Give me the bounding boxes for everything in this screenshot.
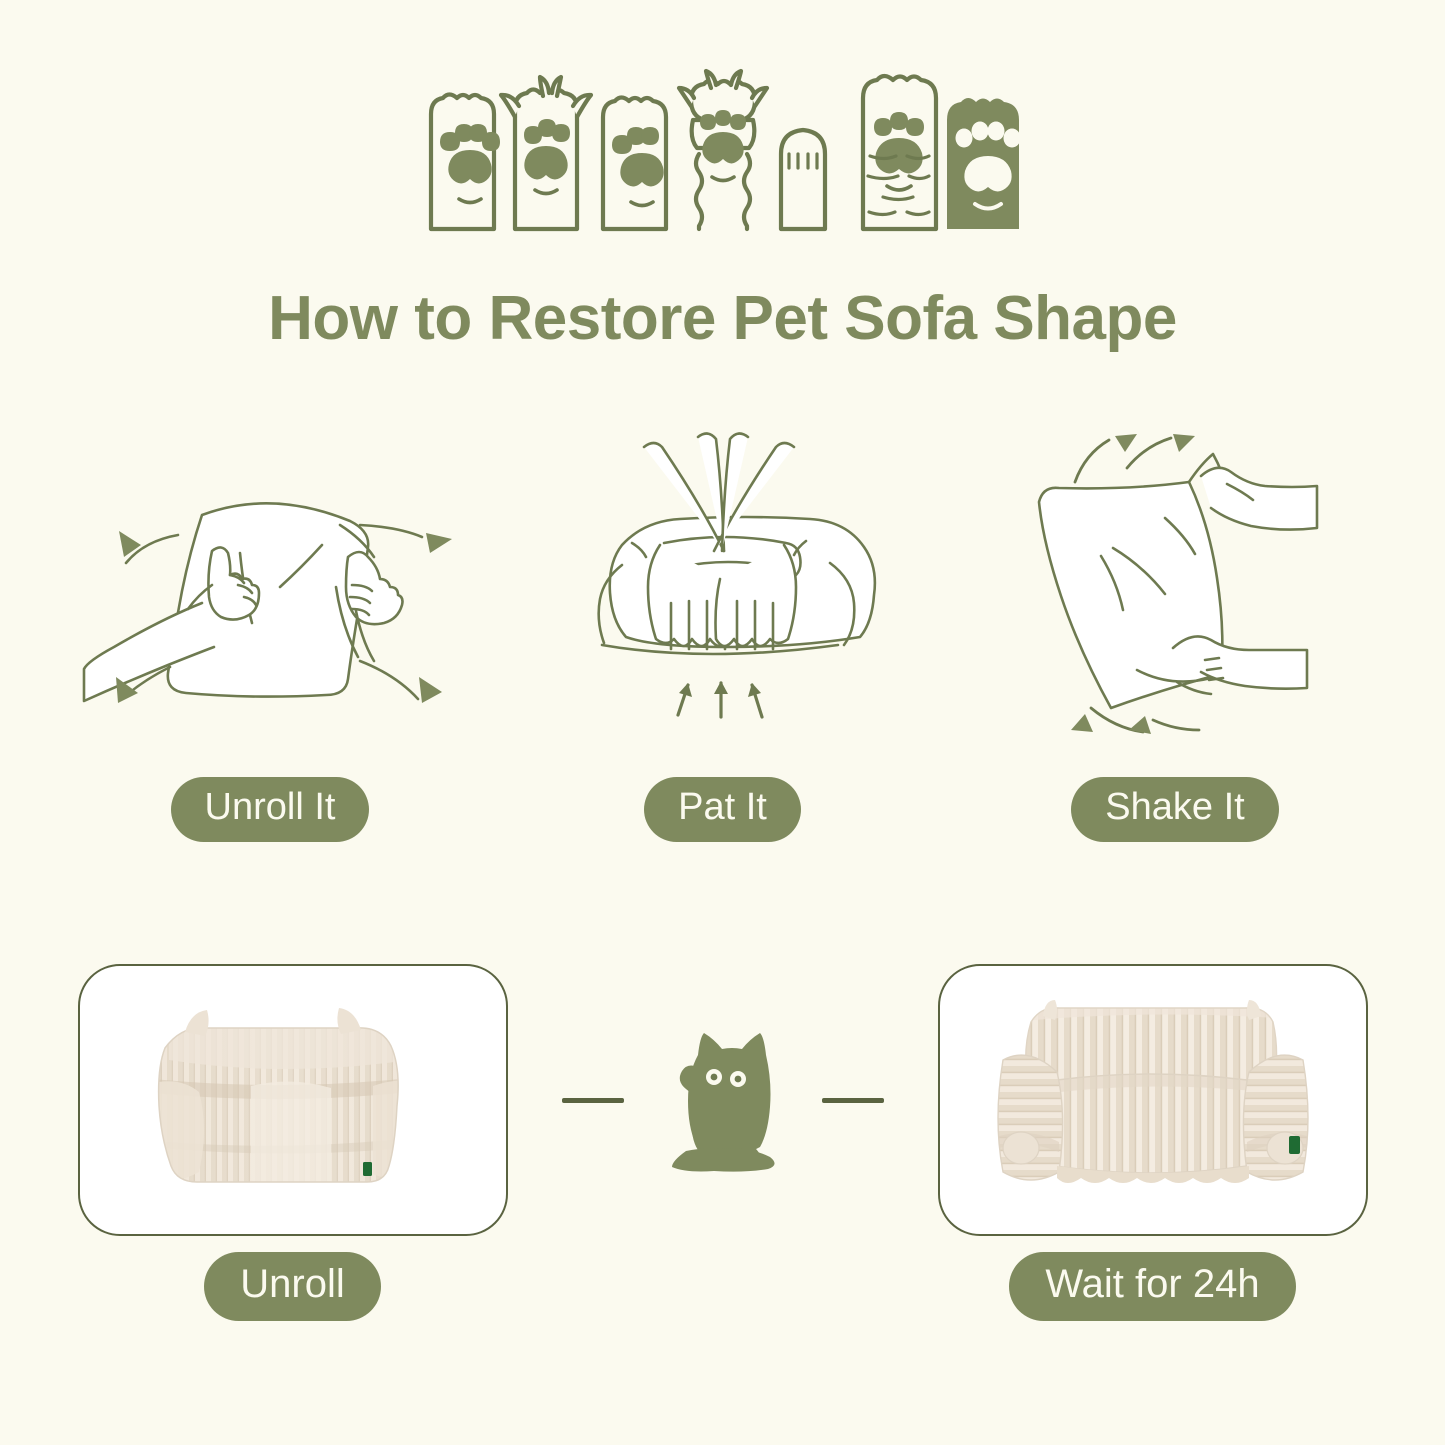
step-label-unroll-it: Unroll It bbox=[171, 777, 370, 842]
before-label-unroll: Unroll bbox=[204, 1252, 380, 1321]
paw-5 bbox=[775, 130, 829, 237]
divider-dash-left bbox=[562, 1098, 624, 1103]
pat-illustration bbox=[558, 415, 888, 755]
infographic-page: .ol { fill:#fbfaef; stroke:#6e7a50; stro… bbox=[0, 0, 1445, 1445]
before-photo-card bbox=[78, 964, 508, 1236]
paw-4 bbox=[679, 71, 767, 229]
step-shake-it: Shake It bbox=[965, 415, 1385, 855]
after-label-wait-for-24h: Wait for 24h bbox=[1009, 1252, 1295, 1321]
unroll-illustration bbox=[60, 415, 480, 755]
brand-tag bbox=[1289, 1136, 1300, 1154]
paw-6 bbox=[859, 76, 936, 229]
cat-silhouette-icon bbox=[658, 1025, 788, 1175]
after-photo-card bbox=[938, 964, 1368, 1236]
step-pat-it: Pat It bbox=[513, 415, 933, 855]
paw-2 bbox=[501, 77, 591, 237]
paw-banner: .ol { fill:#fbfaef; stroke:#6e7a50; stro… bbox=[0, 62, 1445, 237]
steps-row: Unroll It bbox=[60, 415, 1385, 855]
after-label-slot: Wait for 24h bbox=[938, 1252, 1368, 1321]
step-unroll-it: Unroll It bbox=[60, 415, 480, 855]
shake-illustration bbox=[1005, 415, 1345, 755]
paw-7 bbox=[947, 98, 1021, 229]
before-label-slot: Unroll bbox=[78, 1252, 508, 1321]
comparison-divider bbox=[508, 964, 938, 1236]
paw-1 bbox=[431, 95, 500, 230]
comparison-row bbox=[0, 955, 1445, 1245]
brand-tag bbox=[363, 1162, 372, 1176]
step-label-shake-it: Shake It bbox=[1071, 777, 1278, 842]
comparison-labels: Unroll Wait for 24h bbox=[0, 1252, 1445, 1322]
page-title: How to Restore Pet Sofa Shape bbox=[0, 285, 1445, 353]
divider-dash-right bbox=[822, 1098, 884, 1103]
paw-3 bbox=[595, 98, 693, 238]
step-label-pat-it: Pat It bbox=[644, 777, 801, 842]
